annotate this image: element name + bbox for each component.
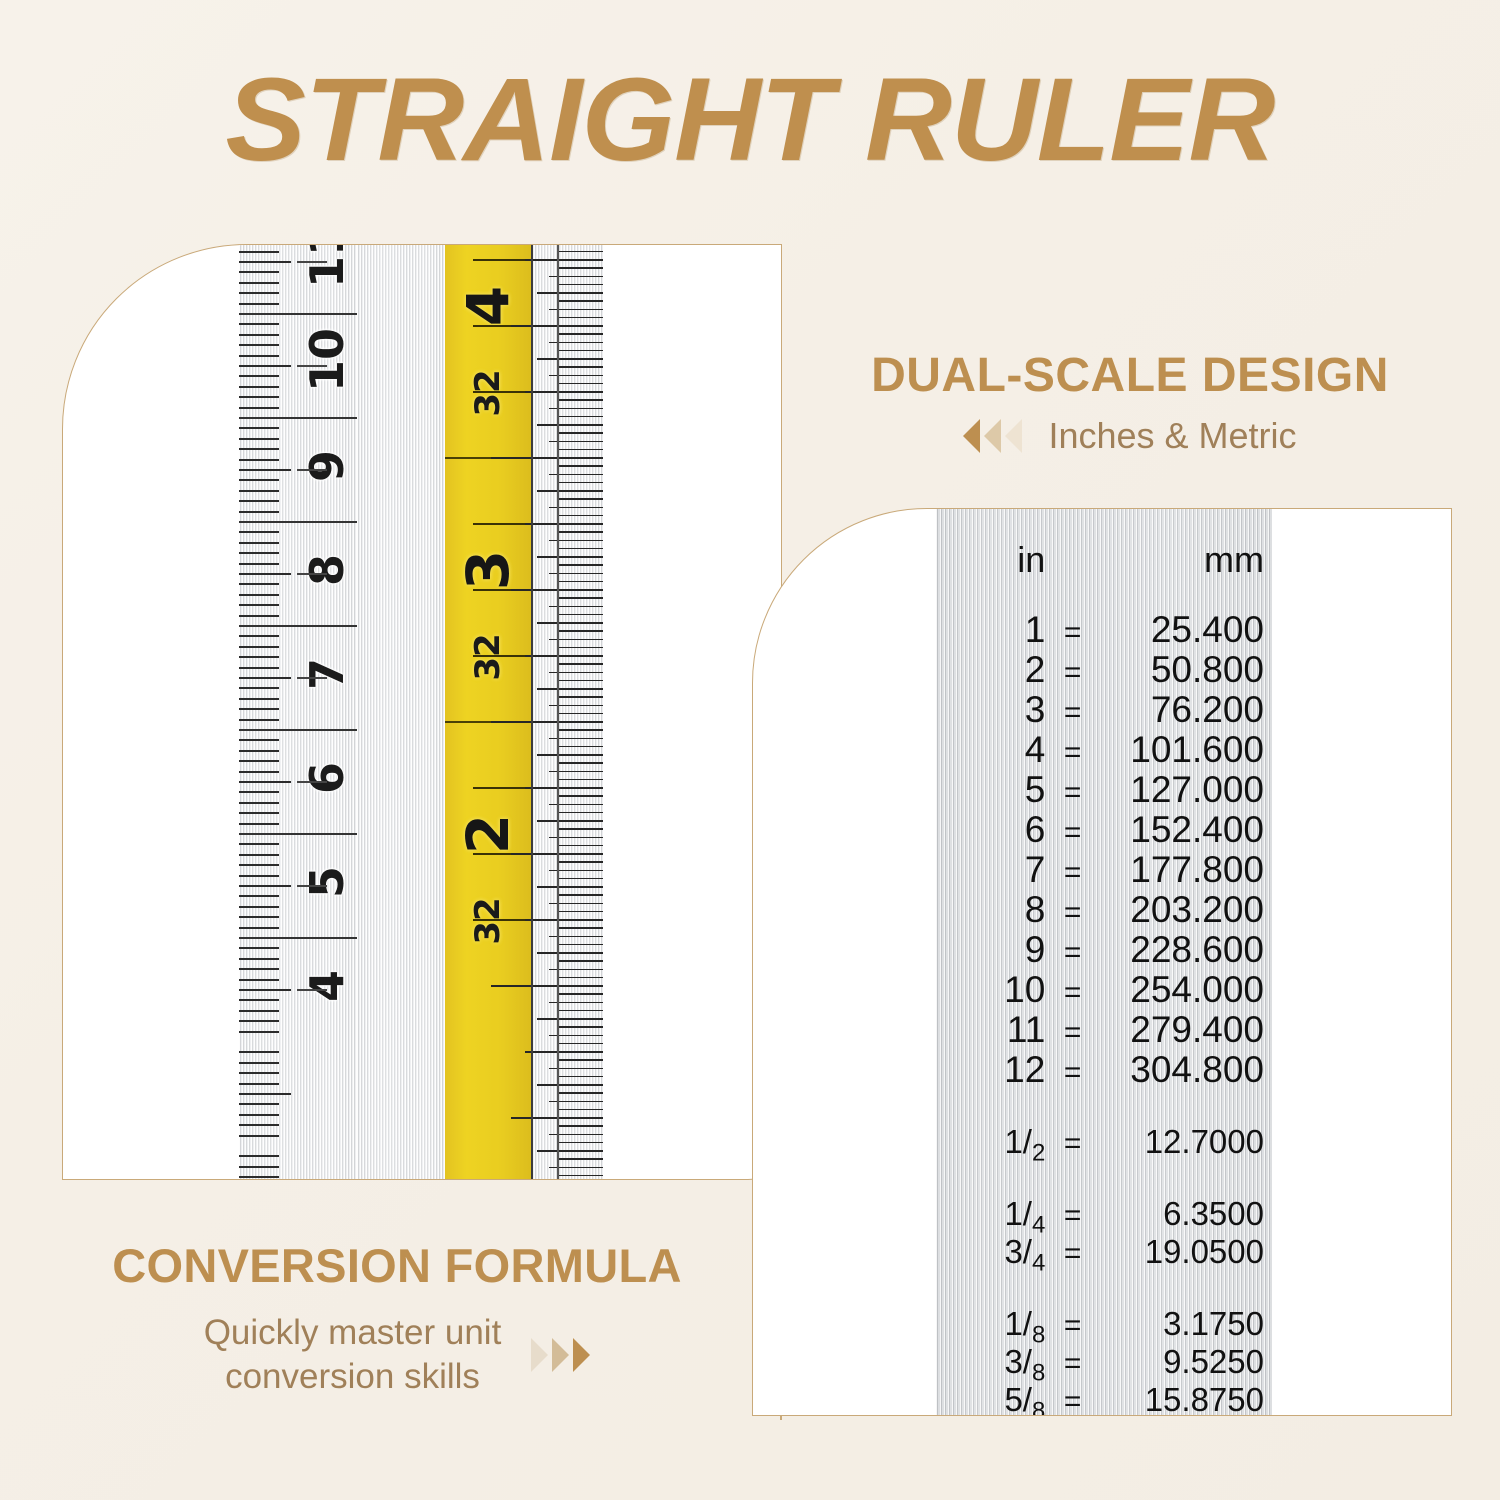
cell-millimetres: 127.000: [1100, 769, 1272, 811]
table-row: 1/4=6.3500: [936, 1195, 1272, 1233]
cell-equals: =: [1045, 1127, 1100, 1161]
metal-plate: inmm1=25.4002=50.8003=76.2004=101.6005=1…: [936, 509, 1272, 1415]
cell-equals: =: [1045, 776, 1100, 810]
table-row: 5=127.000: [936, 769, 1272, 809]
table-row: 4=101.600: [936, 729, 1272, 769]
table-row: 1/8=3.1750: [936, 1305, 1272, 1343]
cm-half-tick: [297, 261, 327, 263]
cell-millimetres: 12.7000: [1100, 1123, 1272, 1161]
chevrons-left: [963, 419, 1022, 453]
cell-equals: =: [1045, 856, 1100, 890]
table-row: 11=279.400: [936, 1009, 1272, 1049]
table-row: 1=25.400: [936, 609, 1272, 649]
cell-millimetres: 76.200: [1100, 689, 1272, 731]
cell-equals: =: [1045, 1056, 1100, 1090]
table-row: 8=203.200: [936, 889, 1272, 929]
cell-millimetres: 228.600: [1100, 929, 1272, 971]
table-row: 5/8=15.8750: [936, 1381, 1272, 1416]
cell-inches: 5/8: [936, 1381, 1045, 1416]
cell-equals: =: [1045, 816, 1100, 850]
cell-equals: =: [1045, 656, 1100, 690]
cell-millimetres: 279.400: [1100, 1009, 1272, 1051]
cell-inches: 12: [936, 1049, 1045, 1091]
cell-millimetres: 15.8750: [1100, 1381, 1272, 1416]
table-row: 3=76.200: [936, 689, 1272, 729]
cm-number: 4: [300, 956, 354, 1016]
cell-equals: =: [1045, 616, 1100, 650]
cell-millimetres: 254.000: [1100, 969, 1272, 1011]
cell-equals: =: [1045, 696, 1100, 730]
chevron-right-icon: [552, 1338, 569, 1372]
cell-millimetres: 304.800: [1100, 1049, 1272, 1091]
cm-half-tick: [297, 573, 327, 575]
description-line-1: Quickly master unit: [204, 1311, 502, 1355]
cm-half-tick: [297, 885, 327, 887]
chevron-left-icon: [1005, 419, 1022, 453]
cell-millimetres: 152.400: [1100, 809, 1272, 851]
cell-inches: 10: [936, 969, 1045, 1011]
chevron-right-icon: [531, 1338, 548, 1372]
cm-number: 11: [300, 244, 354, 288]
fraction-graduations: [491, 245, 603, 1179]
cm-half-tick: [297, 781, 327, 783]
row-gap: [936, 1089, 1272, 1123]
dual-scale-heading: DUAL-SCALE DESIGN: [800, 348, 1460, 403]
conversion-formula-feature: CONVERSION FORMULA Quickly master unit c…: [52, 1238, 742, 1399]
chevron-left-icon: [984, 419, 1001, 453]
conversion-formula-heading: CONVERSION FORMULA: [52, 1238, 742, 1293]
cell-equals: =: [1045, 736, 1100, 770]
chevron-left-icon: [963, 419, 980, 453]
cell-equals: =: [1045, 1199, 1100, 1233]
conversion-table-panel: inmm1=25.4002=50.8003=76.2004=101.6005=1…: [752, 508, 1452, 1416]
cell-equals: =: [1045, 1016, 1100, 1050]
chevron-right-icon: [573, 1338, 590, 1372]
cell-millimetres: 6.3500: [1100, 1195, 1272, 1233]
cm-half-tick: [297, 469, 327, 471]
ruler-photo-panel: 1110987654 432332232: [62, 244, 782, 1180]
conversion-formula-description: Quickly master unit conversion skills: [204, 1311, 502, 1399]
cell-millimetres: 25.400: [1100, 609, 1272, 651]
cm-number: 8: [300, 540, 354, 600]
cell-millimetres: 177.800: [1100, 849, 1272, 891]
cell-inches: 2: [936, 649, 1045, 691]
table-row: 12=304.800: [936, 1049, 1272, 1089]
cell-inches: 5: [936, 769, 1045, 811]
cell-millimetres: 50.800: [1100, 649, 1272, 691]
dual-scale-feature: DUAL-SCALE DESIGN Inches & Metric: [800, 348, 1460, 457]
table-row: 3/8=9.5250: [936, 1343, 1272, 1381]
description-line-2: conversion skills: [204, 1355, 502, 1399]
cm-half-tick: [297, 989, 327, 991]
cell-millimetres: 3.1750: [1100, 1305, 1272, 1343]
cell-equals: =: [1045, 936, 1100, 970]
cell-millimetres: 203.200: [1100, 889, 1272, 931]
cell-millimetres: 9.5250: [1100, 1343, 1272, 1381]
conversion-table: inmm1=25.4002=50.8003=76.2004=101.6005=1…: [936, 509, 1272, 1416]
table-row: 3/4=19.0500: [936, 1233, 1272, 1271]
cell-inches: 1: [936, 609, 1045, 651]
table-row: 10=254.000: [936, 969, 1272, 1009]
millimetre-ticks: [239, 245, 297, 1179]
table-row: 7=177.800: [936, 849, 1272, 889]
table-row: 2=50.800: [936, 649, 1272, 689]
cell-inches: 4: [936, 729, 1045, 771]
ruler-edge-line-2: [557, 245, 559, 1179]
cell-equals: =: [1045, 1237, 1100, 1271]
cell-inches: 6: [936, 809, 1045, 851]
cm-number: 7: [300, 644, 354, 704]
cell-equals: =: [1045, 1309, 1100, 1343]
cm-number: 10: [300, 332, 354, 392]
ruler-blank-band: [357, 245, 445, 1179]
ruler-photograph: 1110987654 432332232: [239, 245, 603, 1179]
cm-half-tick: [297, 365, 327, 367]
cell-inches: 3/4: [936, 1233, 1045, 1278]
cm-number: 9: [300, 436, 354, 496]
table-row: 9=228.600: [936, 929, 1272, 969]
cell-millimetres: 19.0500: [1100, 1233, 1272, 1271]
table-row: 1/2=12.7000: [936, 1123, 1272, 1161]
ruler-edge-line-1: [531, 245, 533, 1179]
cell-equals: =: [1045, 1347, 1100, 1381]
cell-millimetres: 101.600: [1100, 729, 1272, 771]
cell-equals: =: [1045, 896, 1100, 930]
header-mm: mm: [1100, 539, 1272, 581]
dual-scale-subtitle: Inches & Metric: [1048, 415, 1296, 457]
cell-inches: 11: [936, 1009, 1045, 1051]
cell-inches: 9: [936, 929, 1045, 971]
cell-inches: 7: [936, 849, 1045, 891]
cell-inches: 3: [936, 689, 1045, 731]
cm-half-tick: [297, 677, 327, 679]
cell-equals: =: [1045, 1385, 1100, 1416]
chevrons-right: [531, 1338, 590, 1372]
table-header-row: inmm: [936, 509, 1272, 595]
cm-number: 5: [300, 852, 354, 912]
table-row: 6=152.400: [936, 809, 1272, 849]
cell-inches: 8: [936, 889, 1045, 931]
cell-equals: =: [1045, 976, 1100, 1010]
header-in: in: [936, 539, 1045, 581]
cell-inches: 1/2: [936, 1123, 1045, 1168]
page-title: STRAIGHT RULER: [0, 52, 1500, 188]
cm-cell: 11: [297, 244, 357, 313]
cm-number: 6: [300, 748, 354, 808]
